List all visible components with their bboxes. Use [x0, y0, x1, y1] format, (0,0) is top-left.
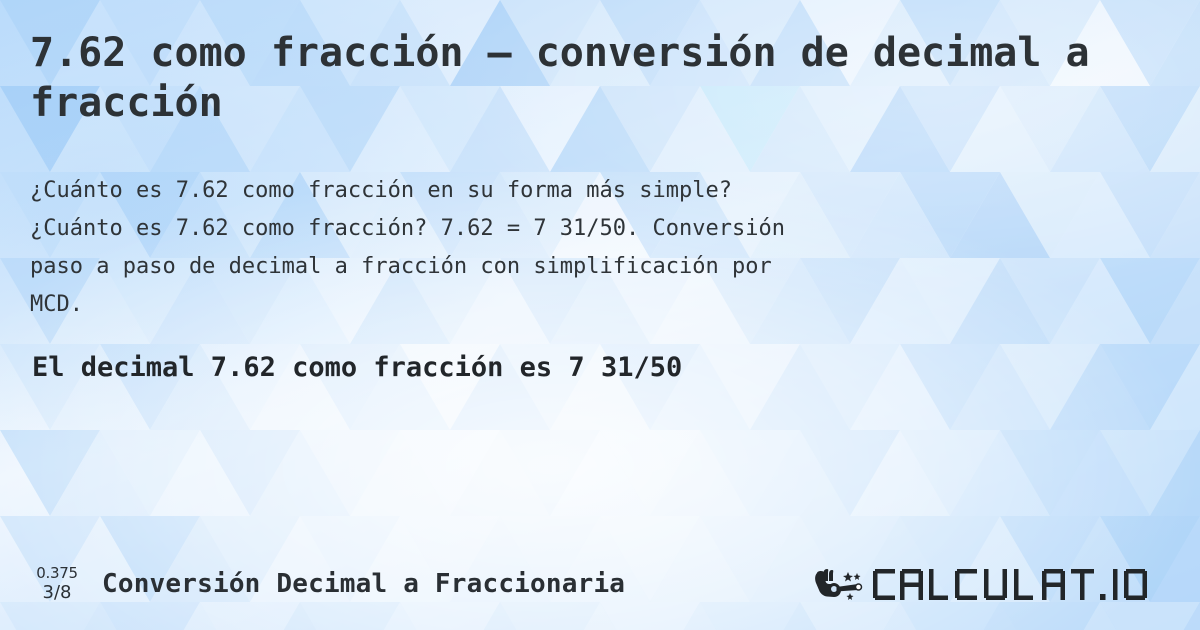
footer-left-group: 0.375 3/8 Conversión Decimal a Fracciona…: [28, 566, 625, 602]
footer-site-title: Conversión Decimal a Fraccionaria: [102, 569, 625, 599]
magic-wand-hand-icon: [812, 564, 866, 604]
decimal-fraction-icon: 0.375 3/8: [28, 566, 86, 602]
decimal-fraction-icon-decimal: 0.375: [36, 566, 77, 581]
brand-wordmark: [872, 564, 1172, 604]
content-area: 7.62 como fracción – conversión de decim…: [0, 0, 1200, 630]
og-card: 7.62 como fracción – conversión de decim…: [0, 0, 1200, 630]
brand-logo[interactable]: [812, 564, 1172, 604]
footer: 0.375 3/8 Conversión Decimal a Fracciona…: [0, 538, 1200, 630]
answer-statement: El decimal 7.62 como fracción es 7 31/50: [32, 350, 1170, 386]
page-title: 7.62 como fracción – conversión de decim…: [30, 28, 1090, 128]
page-description: ¿Cuánto es 7.62 como fracción en su form…: [30, 172, 1145, 324]
decimal-fraction-icon-fraction: 3/8: [43, 584, 72, 602]
